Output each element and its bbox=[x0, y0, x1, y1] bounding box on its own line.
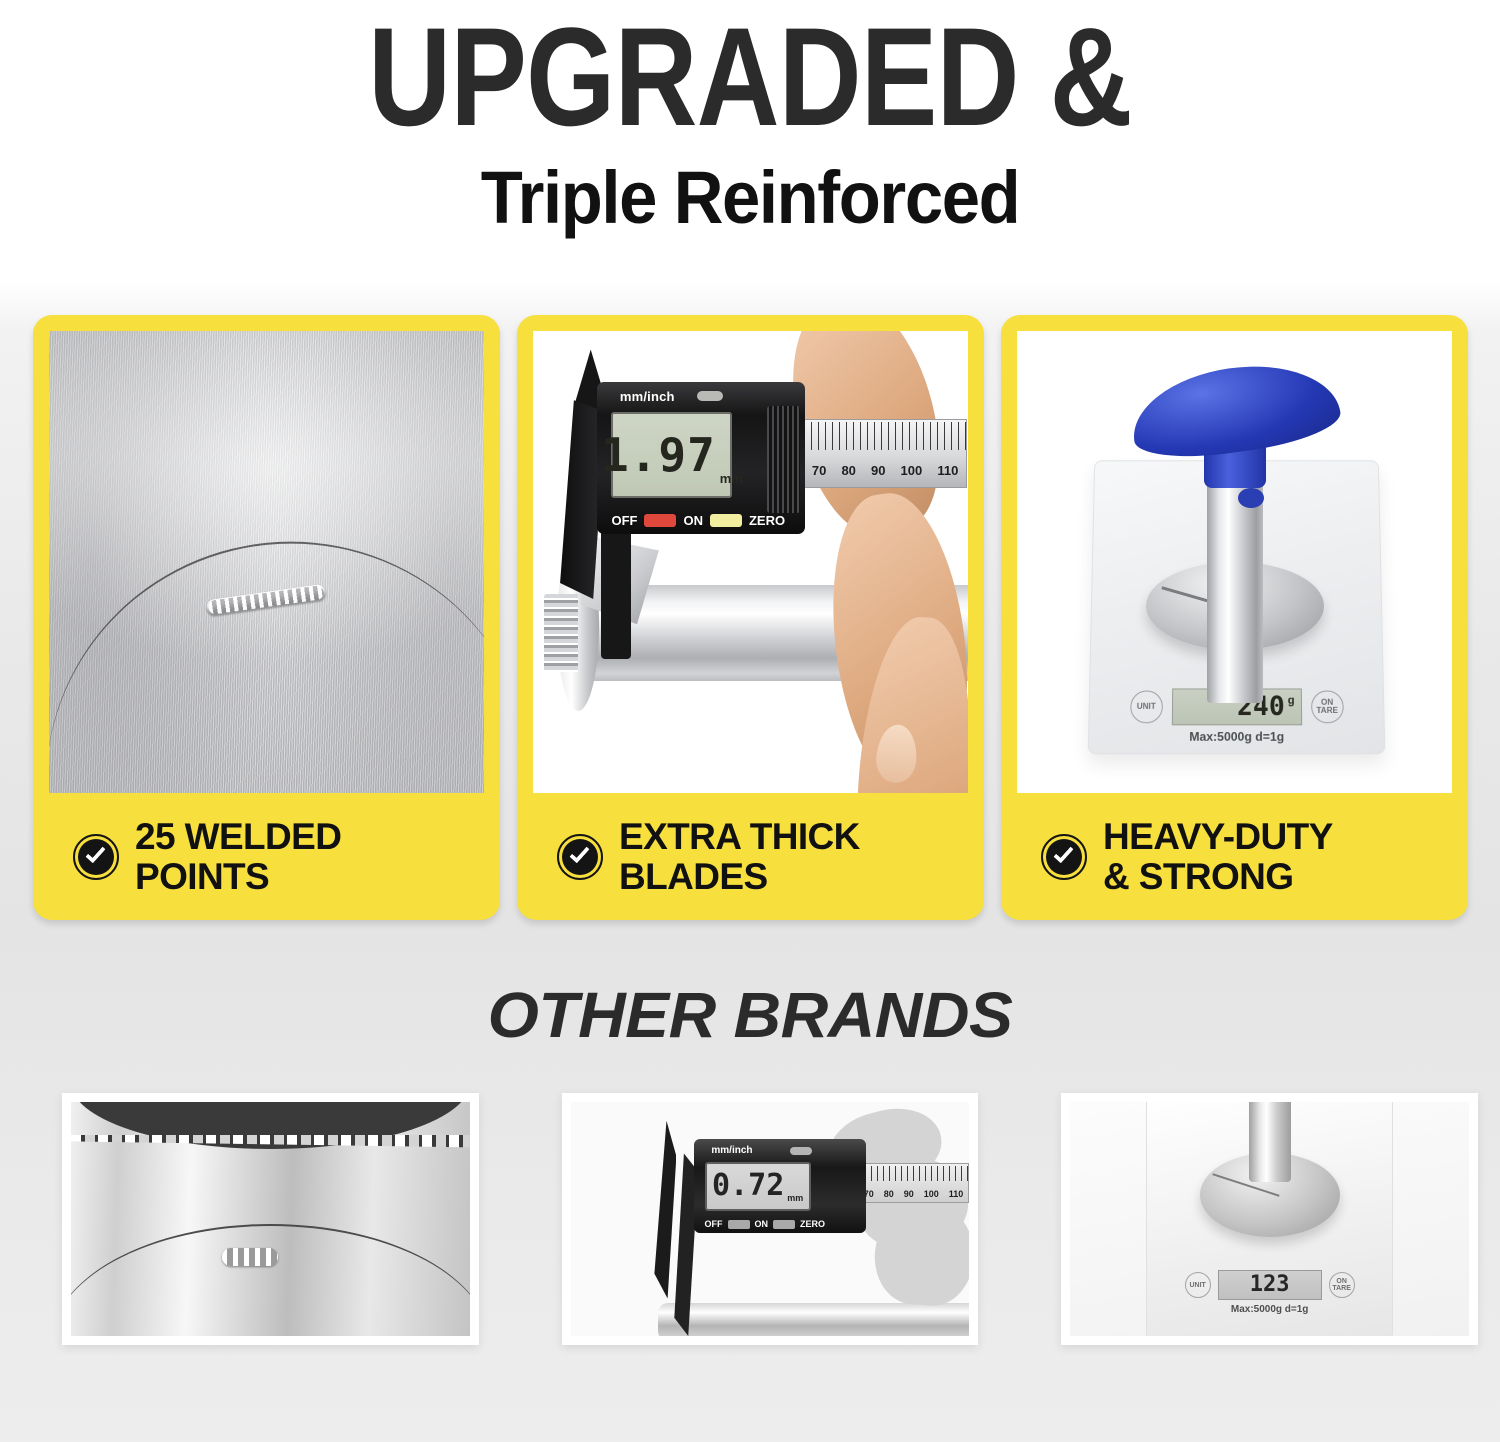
caliper-ruler: 70 80 90 100 110 bbox=[803, 419, 967, 488]
scale-unit-button[interactable]: UNIT bbox=[1130, 690, 1163, 723]
caliper-off-label: OFF bbox=[611, 513, 637, 528]
caliper-upper-jaw bbox=[654, 1121, 676, 1299]
feature-card-caption: 25 WELDED POINTS bbox=[49, 793, 484, 920]
caliper-mode-label: mm/inch bbox=[711, 1145, 752, 1156]
header: UPGRADED & Triple Reinforced bbox=[0, 0, 1500, 235]
caliper-body: mm/inch 0.72 mm OFF ON ZERO bbox=[694, 1139, 865, 1233]
scale-reading: 123 bbox=[1250, 1274, 1290, 1296]
caliper-body: mm/inch 1.97 mm OFF ON ZERO bbox=[597, 382, 806, 534]
scale-lcd-screen: 123 bbox=[1218, 1270, 1322, 1300]
scale-spec-label: Max:5000g d=1g bbox=[1231, 1304, 1309, 1315]
ruler-tick-label: 90 bbox=[871, 463, 885, 478]
ruler-tick-label: 80 bbox=[841, 463, 855, 478]
caliper-unit: mm bbox=[787, 1193, 803, 1209]
fingernail bbox=[874, 724, 918, 785]
other-brand-welds-photo bbox=[62, 1093, 479, 1345]
other-brand-scale-photo: UNIT 123 ON TARE Max:5000g d=1g bbox=[1061, 1093, 1478, 1345]
caliper-mode-button[interactable] bbox=[697, 391, 723, 401]
corer-release-hole bbox=[1238, 488, 1264, 508]
caliper-reading: 0.72 bbox=[712, 1171, 784, 1201]
caliper-measurement-photo: 70 80 90 100 110 mm/inch 1.97 mm bbox=[533, 331, 968, 793]
caliper-unit: mm bbox=[720, 471, 743, 496]
caliper-reading: 1.97 bbox=[601, 432, 716, 478]
scale-weight-photo: UNIT 240 g ON TARE Max:5000g d=1g bbox=[1017, 331, 1452, 793]
corer-shaft bbox=[1249, 1093, 1291, 1182]
caliper-zero-label: ZERO bbox=[800, 1219, 825, 1229]
ruler-tick-label: 80 bbox=[884, 1189, 894, 1199]
welded-points-photo bbox=[49, 331, 484, 793]
feature-card-extra-thick-blades[interactable]: 70 80 90 100 110 mm/inch 1.97 mm bbox=[517, 315, 984, 920]
caliper-off-label: OFF bbox=[705, 1219, 723, 1229]
caliper-lcd-screen: 1.97 mm bbox=[611, 412, 732, 497]
page-title: UPGRADED & bbox=[135, 8, 1365, 145]
scale-on-tare-button[interactable]: ON TARE bbox=[1329, 1272, 1355, 1298]
scale-unit-label: g bbox=[1288, 689, 1295, 706]
feature-caption-label: HEAVY-DUTY & STRONG bbox=[1103, 817, 1333, 897]
caliper-ruler: 70 80 90 100 110 bbox=[858, 1163, 970, 1203]
ruler-tick-label: 90 bbox=[904, 1189, 914, 1199]
caliper-on-label: ON bbox=[683, 513, 703, 528]
feature-caption-label: 25 WELDED POINTS bbox=[135, 817, 341, 897]
caliper-zero-button[interactable] bbox=[710, 514, 742, 527]
feature-caption-label: EXTRA THICK BLADES bbox=[619, 817, 860, 897]
scale-on-tare-button[interactable]: ON TARE bbox=[1311, 690, 1344, 723]
competitor-tube bbox=[658, 1303, 977, 1340]
ruler-tick-label: 100 bbox=[924, 1189, 939, 1199]
caliper-mode-label: mm/inch bbox=[620, 389, 675, 404]
scale-unit-button[interactable]: UNIT bbox=[1185, 1272, 1211, 1298]
ruler-tick-label: 70 bbox=[812, 463, 826, 478]
other-brand-caliper-photo: 70 80 90 100 110 mm/inch 0.72 mm OFF ON bbox=[562, 1093, 979, 1345]
caliper-off-button[interactable] bbox=[728, 1220, 750, 1229]
corer-t-handle bbox=[1126, 354, 1344, 466]
caliper-lcd-screen: 0.72 mm bbox=[705, 1162, 811, 1211]
ruler-tick-label: 110 bbox=[949, 1189, 964, 1199]
caliper-on-label: ON bbox=[755, 1219, 769, 1229]
tube-serrated-edge bbox=[544, 594, 578, 672]
feature-card-heavy-duty[interactable]: UNIT 240 g ON TARE Max:5000g d=1g bbox=[1001, 315, 1468, 920]
check-circle-icon bbox=[73, 834, 119, 880]
feature-card-welded-points[interactable]: 25 WELDED POINTS bbox=[33, 315, 500, 920]
feature-card-caption: HEAVY-DUTY & STRONG bbox=[1017, 793, 1452, 920]
other-brands-title: OTHER BRANDS bbox=[0, 978, 1500, 1052]
other-brands-row: 70 80 90 100 110 mm/inch 0.72 mm OFF ON bbox=[62, 1093, 1478, 1345]
caliper-thumb-wheel[interactable] bbox=[767, 406, 800, 513]
digital-caliper: 70 80 90 100 110 mm/inch 1.97 mm bbox=[542, 349, 951, 580]
caliper-zero-label: ZERO bbox=[749, 513, 785, 528]
caliper-mode-button[interactable] bbox=[790, 1147, 812, 1155]
caliper-stem bbox=[601, 530, 631, 659]
feature-cards-row: 25 WELDED POINTS bbox=[33, 315, 1470, 920]
competitor-weld-points bbox=[222, 1248, 278, 1266]
check-circle-icon bbox=[557, 834, 603, 880]
caliper-zero-button[interactable] bbox=[773, 1220, 795, 1229]
ruler-tick-label: 110 bbox=[937, 463, 958, 478]
feature-card-caption: EXTRA THICK BLADES bbox=[533, 793, 968, 920]
caliper-off-button[interactable] bbox=[644, 514, 676, 527]
ruler-tick-label: 100 bbox=[901, 463, 923, 478]
page-subtitle: Triple Reinforced bbox=[53, 161, 1448, 235]
scale-spec-label: Max:5000g d=1g bbox=[1189, 729, 1284, 743]
check-circle-icon bbox=[1041, 834, 1087, 880]
